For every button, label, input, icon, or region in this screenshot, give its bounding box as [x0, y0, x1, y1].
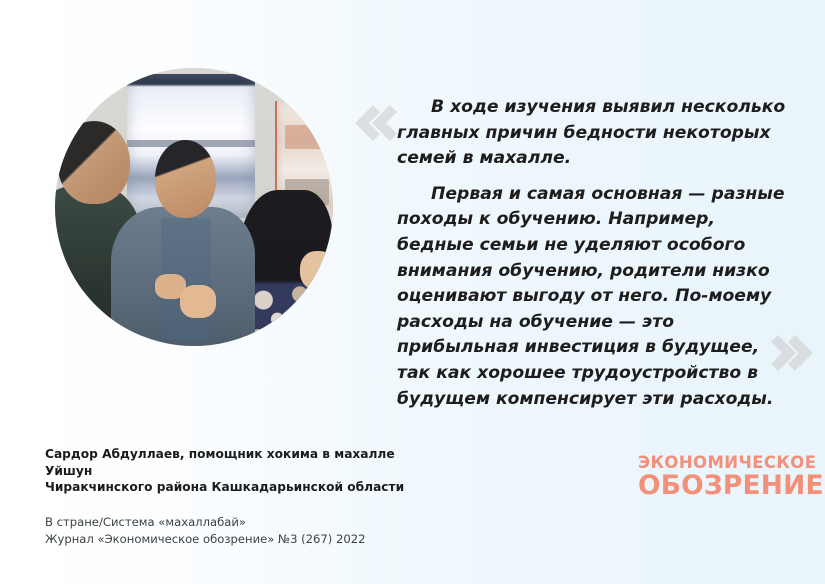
attribution-name-line-1: Сардор Абдуллаев, помощник хокима в маха… — [45, 447, 395, 478]
quote-text: В ходе изучения выявил несколько главных… — [397, 95, 787, 412]
photo-person-center-hand-right — [180, 285, 216, 318]
photo-person-left-head — [58, 121, 130, 204]
quote-open-chevron-icon — [353, 104, 397, 142]
photo-person-right-hand — [300, 251, 333, 290]
attribution: Сардор Абдуллаев, помощник хокима в маха… — [45, 446, 425, 549]
attribution-name: Сардор Абдуллаев, помощник хокима в маха… — [45, 446, 425, 496]
quote-slide: В ходе изучения выявил несколько главных… — [0, 0, 825, 584]
attribution-source: В стране/Система «махаллабай» Журнал «Эк… — [45, 514, 425, 549]
quote-paragraph-2: Первая и самая основная — разные походы … — [397, 182, 787, 412]
photo-scene — [55, 68, 333, 346]
logo-line-2: ОБОЗРЕНИЕ — [638, 472, 824, 499]
portrait-photo — [55, 68, 333, 346]
attribution-name-line-2: Чиракчинского района Кашкадарьинской обл… — [45, 480, 404, 494]
photo-person-center-head — [155, 140, 216, 218]
attribution-source-line-2: Журнал «Экономическое обозрение» №3 (267… — [45, 531, 425, 549]
quote-paragraph-1: В ходе изучения выявил несколько главных… — [397, 95, 787, 172]
attribution-source-line-1: В стране/Система «махаллабай» — [45, 514, 425, 532]
publication-logo: ЭКОНОМИЧЕСКОЕ ОБОЗРЕНИЕ — [638, 454, 824, 499]
